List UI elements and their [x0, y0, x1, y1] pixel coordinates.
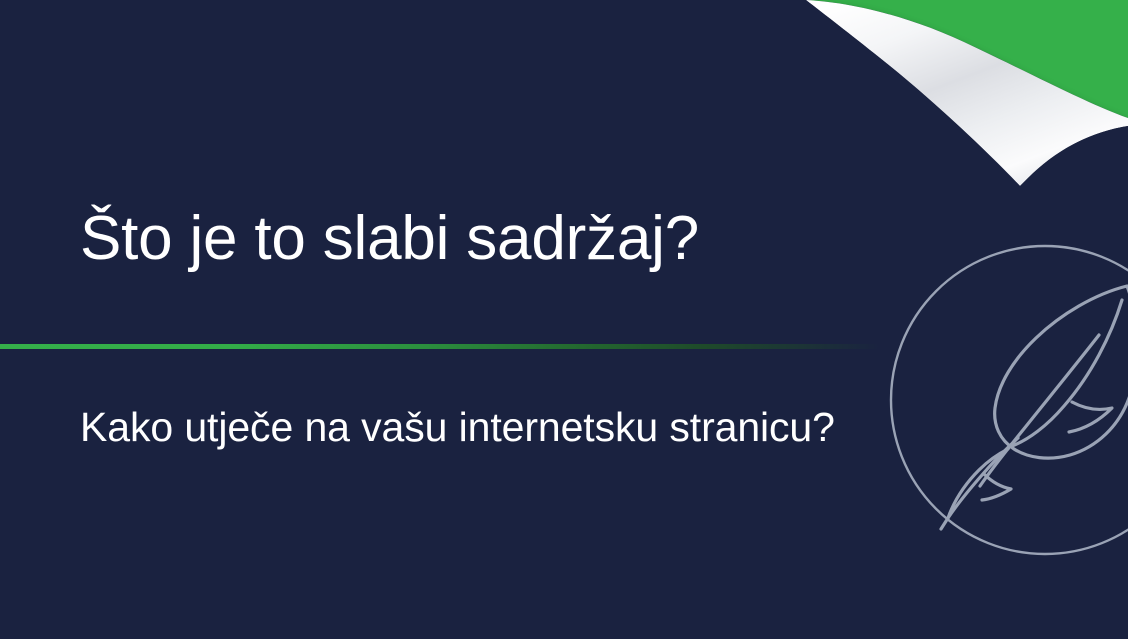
page-title: Što je to slabi sadržaj?: [80, 204, 699, 273]
accent-divider: [0, 344, 880, 349]
banner-card: Što je to slabi sadržaj? Kako utječe na …: [0, 0, 1128, 639]
feather-icon: [941, 286, 1128, 529]
corner-navy-fold: [788, 0, 1128, 210]
page-subtitle: Kako utječe na vašu internetsku stranicu…: [80, 404, 835, 451]
emblem-circle-outline: [891, 246, 1128, 554]
feather-quill-emblem: [888, 243, 1128, 563]
